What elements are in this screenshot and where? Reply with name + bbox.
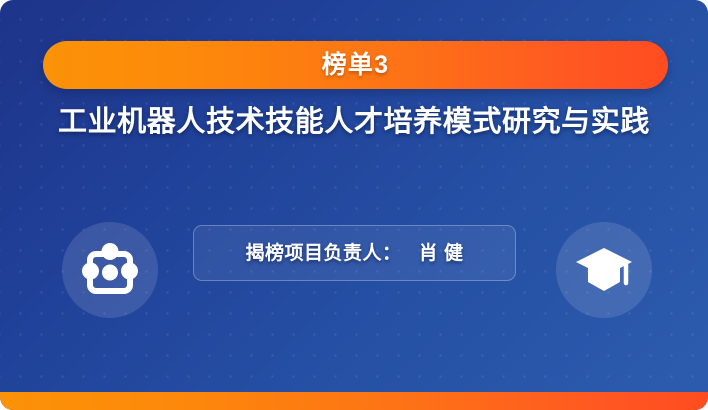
graduation-cap-icon-disc bbox=[556, 222, 652, 318]
robot-icon bbox=[81, 241, 139, 299]
bottom-accent-strip bbox=[0, 392, 708, 410]
graduation-cap-icon bbox=[574, 242, 634, 298]
project-title: 工业机器人技术技能人才培养模式研究与实践 bbox=[0, 103, 708, 142]
robot-icon-disc bbox=[62, 222, 158, 318]
rank-badge-label: 榜单3 bbox=[322, 53, 390, 78]
rank-badge: 榜单3 bbox=[43, 41, 668, 89]
list-item-card: 榜单3 工业机器人技术技能人才培养模式研究与实践 bbox=[0, 0, 708, 410]
project-leader-pill: 揭榜项目负责人： 肖 健 bbox=[193, 225, 516, 281]
project-leader-text: 揭榜项目负责人： 肖 健 bbox=[245, 244, 463, 263]
